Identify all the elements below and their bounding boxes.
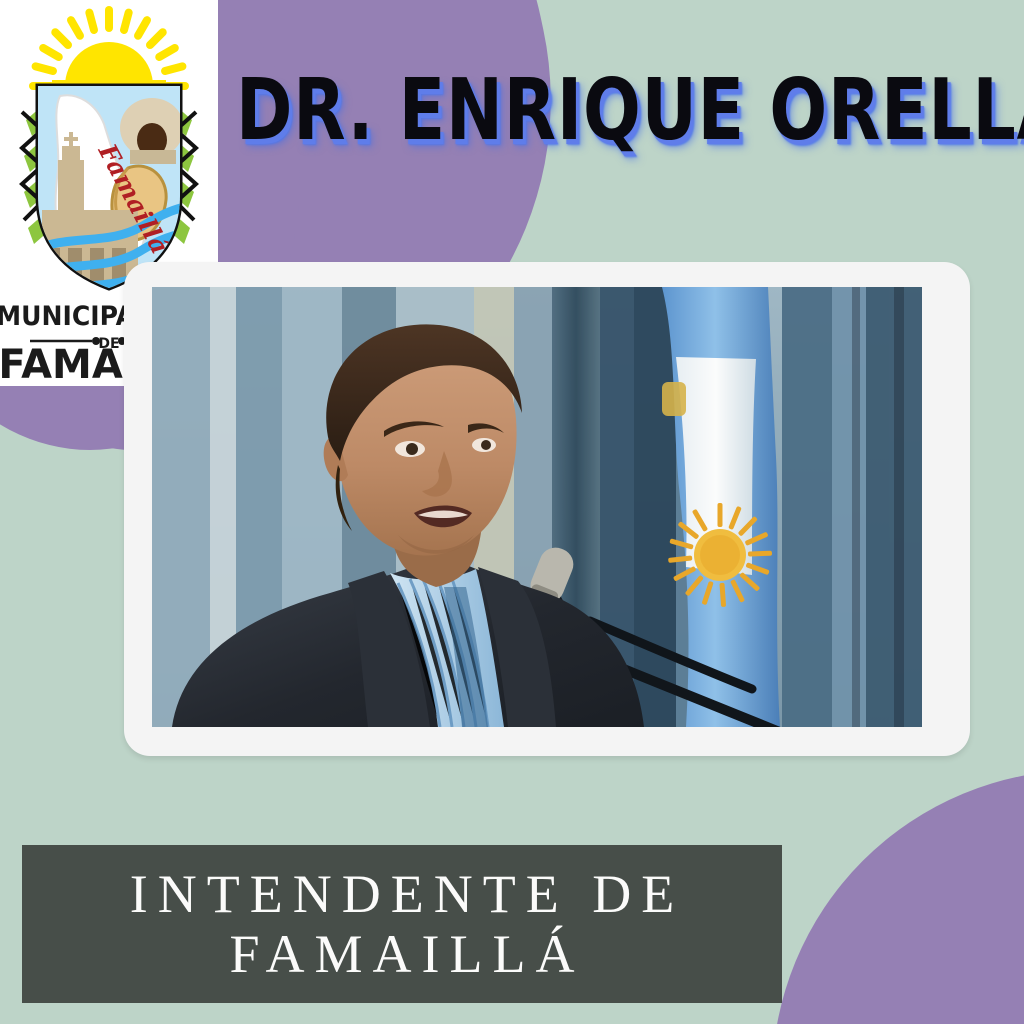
- main-title-text: DR. ENRIQUE ORELLANA: [236, 68, 1024, 153]
- portrait-photo: [152, 287, 922, 727]
- page-title: DR. ENRIQUE ORELLANA: [236, 56, 1018, 164]
- purple-circle-bottom-right: [772, 770, 1024, 1024]
- role-banner: INTENDENTE DE FAMAILLÁ: [22, 845, 782, 1003]
- role-line-1: INTENDENTE DE: [120, 864, 684, 924]
- role-line-2: FAMAILLÁ: [220, 924, 585, 984]
- poster-canvas: Famaillá MUNICIPALIDAD DE FAMAILLÁ DR. E…: [0, 0, 1024, 1024]
- role-banner-text: INTENDENTE DE FAMAILLÁ: [22, 845, 782, 1003]
- photo-frame: [124, 262, 970, 756]
